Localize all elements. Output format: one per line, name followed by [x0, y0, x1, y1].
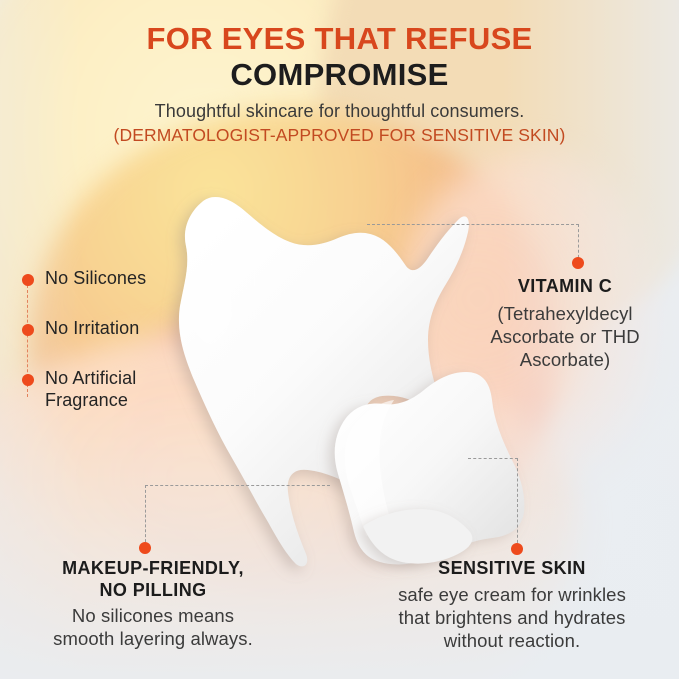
bullet-dot-icon: [22, 274, 34, 286]
callout-body: safe eye cream for wrinkles that brighte…: [352, 583, 672, 653]
dermatologist-approval-line: (DERMATOLOGIST-APPROVED FOR SENSITIVE SK…: [0, 125, 679, 146]
callout-title: MAKEUP-FRIENDLY, NO PILLING: [8, 558, 298, 601]
callout-title-line: NO PILLING: [8, 580, 298, 602]
list-item: No Artificial Fragrance: [22, 368, 252, 412]
callout-body-line: (Tetrahexyldecyl: [452, 302, 678, 325]
callout-body-line: without reaction.: [352, 629, 672, 652]
callout-body-line: smooth layering always.: [8, 627, 298, 650]
list-item: No Irritation: [22, 318, 252, 340]
list-item: No Silicones: [22, 268, 252, 290]
callout-vitamin-c: VITAMIN C (Tetrahexyldecyl Ascorbate or …: [452, 276, 678, 371]
subheadline: Thoughtful skincare for thoughtful consu…: [0, 101, 679, 123]
callout-title: SENSITIVE SKIN: [352, 558, 672, 580]
callout-body-line: No silicones means: [8, 604, 298, 627]
callout-body: (Tetrahexyldecyl Ascorbate or THD Ascorb…: [452, 302, 678, 372]
bullet-dot-icon: [22, 374, 34, 386]
bullet-dot-icon: [22, 324, 34, 336]
callout-body-line: safe eye cream for wrinkles: [352, 583, 672, 606]
headline-line-2: COMPROMISE: [0, 58, 679, 93]
callout-body: No silicones means smooth layering alway…: [8, 604, 298, 651]
bullet-label: No Artificial Fragrance: [45, 368, 136, 412]
benefits-bullet-list: No Silicones No Irritation No Artificial…: [22, 268, 252, 412]
bullet-label: No Silicones: [45, 268, 146, 290]
callout-body-line: Ascorbate or THD: [452, 325, 678, 348]
callout-sensitive-skin: SENSITIVE SKIN safe eye cream for wrinkl…: [352, 558, 672, 652]
callout-title: VITAMIN C: [452, 276, 678, 298]
callout-title-line: MAKEUP-FRIENDLY,: [8, 558, 298, 580]
callout-body-line: that brightens and hydrates: [352, 606, 672, 629]
bullet-label: No Irritation: [45, 318, 139, 340]
headline-line-1: FOR EYES THAT REFUSE: [0, 22, 679, 56]
product-infographic: FOR EYES THAT REFUSE COMPROMISE Thoughtf…: [0, 0, 679, 679]
header-block: FOR EYES THAT REFUSE COMPROMISE Thoughtf…: [0, 22, 679, 146]
callout-makeup-friendly: MAKEUP-FRIENDLY, NO PILLING No silicones…: [8, 558, 298, 651]
callout-body-line: Ascorbate): [452, 348, 678, 371]
